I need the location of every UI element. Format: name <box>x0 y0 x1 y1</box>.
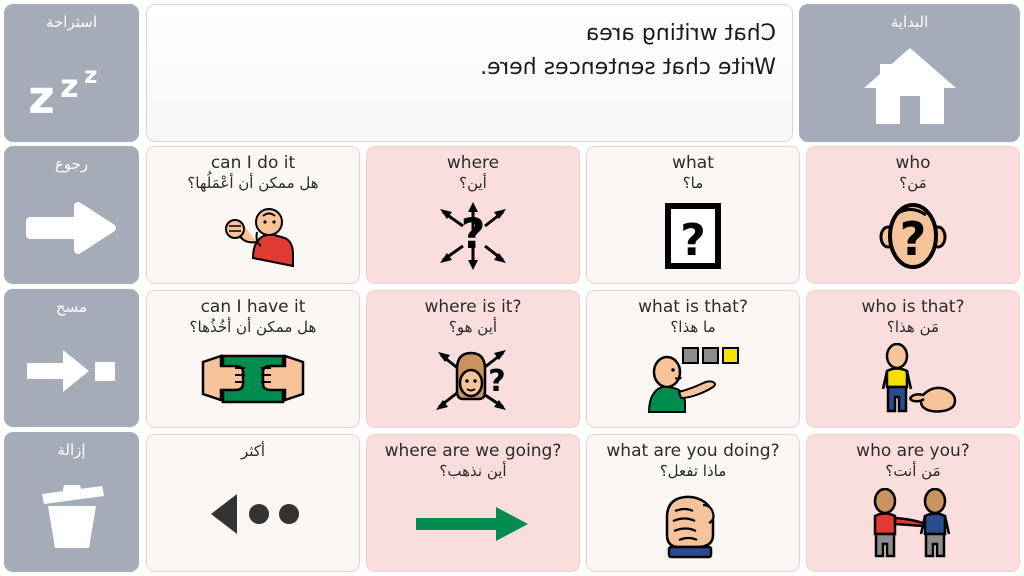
symbol-label-ar: مَن أنت؟ <box>885 462 940 482</box>
green-arrow-icon <box>367 481 579 571</box>
person-pointed-at-icon <box>807 337 1019 427</box>
zzz-sleep-icon: z z z <box>4 30 139 142</box>
symbol-cell-where[interactable]: where أين؟ ? <box>366 146 580 284</box>
symbol-cell-more[interactable]: أكثر <box>146 434 360 572</box>
svg-text:?: ? <box>900 212 927 266</box>
symbol-label-ar: هل ممكن أن أخُذُها؟ <box>190 318 317 338</box>
symbol-label-en: what are you doing? <box>606 442 779 462</box>
symbol-label-ar: أين؟ <box>459 174 487 194</box>
rail-button-rest-label: استراحة <box>46 4 97 30</box>
symbol-label-ar: أين هو؟ <box>449 318 497 338</box>
symbol-label-ar: ما هذا؟ <box>670 318 715 338</box>
rail-button-remove-label: إزالة <box>57 432 85 458</box>
symbol-label-en: who is that? <box>861 298 964 318</box>
symbol-cell-can-i-have-it[interactable]: can I have it هل ممكن أن أخُذُها؟ <box>146 290 360 428</box>
chat-line-1: Chat writing area <box>163 17 776 51</box>
svg-text:?: ? <box>488 364 505 399</box>
symbol-label-en: who are you? <box>856 442 970 462</box>
question-head-icon: ? <box>807 193 1019 283</box>
rail-button-clear-label: مسح <box>56 289 87 315</box>
symbol-label-ar: مَن؟ <box>899 174 926 194</box>
rail-button-back[interactable]: رجوع <box>4 146 139 284</box>
symbol-label-ar: ما؟ <box>683 174 704 194</box>
svg-text:z: z <box>28 70 55 117</box>
symbol-cell-where-are-we-going[interactable]: where are we going? أين نذهب؟ <box>366 434 580 572</box>
svg-text:?: ? <box>461 209 485 258</box>
symbol-cell-where-is-it[interactable]: where is it? أين هو؟ ? <box>366 290 580 428</box>
symbol-cell-who-is-that[interactable]: who is that? مَن هذا؟ <box>806 290 1020 428</box>
symbol-label-en: where <box>447 154 499 174</box>
rail-button-back-label: رجوع <box>55 146 88 172</box>
hands-giving-icon <box>147 337 359 427</box>
symbol-label-en: where are we going? <box>385 442 562 462</box>
aac-communication-board: استراحة z z z رجوع مسح إزالة <box>0 0 1024 576</box>
rail-button-remove[interactable]: إزالة <box>4 432 139 572</box>
symbol-cell-what[interactable]: what ما؟ ? <box>586 146 800 284</box>
symbol-label-en: can I do it <box>211 154 295 174</box>
symbol-cell-can-i-do-it[interactable]: can I do it هل ممكن أن أعْمَلُها؟ <box>146 146 360 284</box>
girl-looking-arrows-icon: ? <box>367 337 579 427</box>
person-flexing-icon <box>147 193 359 283</box>
symbol-label-ar: أين نذهب؟ <box>439 462 506 482</box>
symbol-label-en: can I have it <box>201 298 306 318</box>
rail-button-rest[interactable]: استراحة z z z <box>4 4 139 142</box>
fist-hand-icon <box>587 481 799 571</box>
more-triangle-dots-icon <box>147 462 359 572</box>
symbol-label-ar: مَن هذا؟ <box>887 318 939 338</box>
svg-text:z: z <box>60 67 79 105</box>
trash-can-icon <box>4 458 139 572</box>
symbol-cell-what-is-that[interactable]: what is that? ما هذا؟ <box>586 290 800 428</box>
chat-line-2: Write chat sentences here. <box>163 51 776 85</box>
symbol-cell-who-are-you[interactable]: who are you? مَن أنت؟ <box>806 434 1020 572</box>
two-people-pointing-icon <box>807 481 1019 571</box>
symbol-label-en: what is that? <box>638 298 748 318</box>
house-icon <box>799 30 1020 142</box>
symbol-label-ar: ماذا تفعل؟ <box>660 462 727 482</box>
symbol-cell-what-are-you-doing[interactable]: what are you doing? ماذا تفعل؟ <box>586 434 800 572</box>
rail-button-home[interactable]: البداية <box>799 4 1020 142</box>
question-arrows-icon: ? <box>367 193 579 283</box>
symbol-label-en: where is it? <box>424 298 521 318</box>
symbol-label-ar: هل ممكن أن أعْمَلُها؟ <box>187 174 318 194</box>
rail-button-clear[interactable]: مسح <box>4 289 139 427</box>
symbol-label-ar: أكثر <box>241 442 265 462</box>
symbol-grid: can I do it هل ممكن أن أعْمَلُها؟ where … <box>146 146 1020 572</box>
symbol-cell-who[interactable]: who مَن؟ ? <box>806 146 1020 284</box>
arrow-right-icon <box>4 172 139 284</box>
person-pointing-squares-icon <box>587 337 799 427</box>
arrow-to-square-icon <box>4 315 139 427</box>
svg-text:z: z <box>84 63 97 89</box>
chat-writing-area[interactable]: Chat writing area Write chat sentences h… <box>146 4 793 142</box>
question-box-icon: ? <box>587 193 799 283</box>
symbol-label-en: who <box>895 154 930 174</box>
rail-button-home-label: البداية <box>891 4 929 30</box>
symbol-label-en: what <box>672 154 714 174</box>
svg-text:?: ? <box>680 215 706 266</box>
